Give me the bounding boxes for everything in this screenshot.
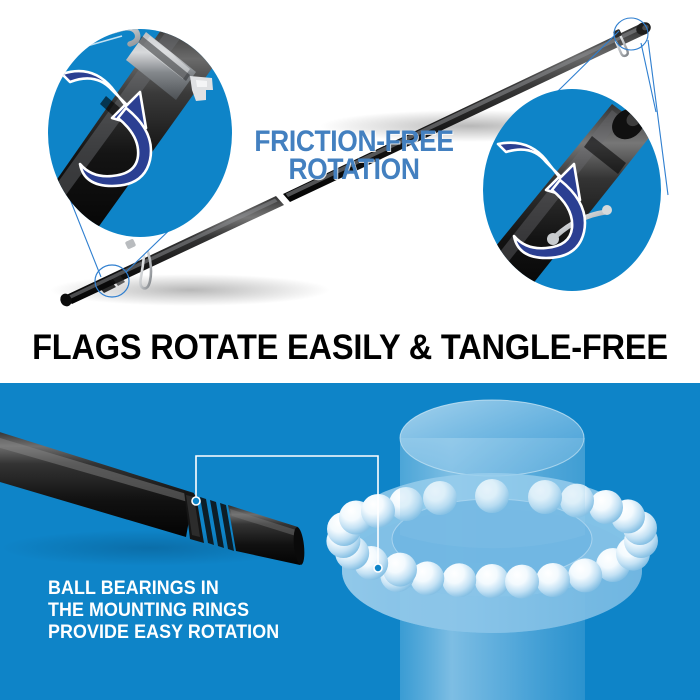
bearing-illustration [0,383,700,700]
leader-endpoint-ring [374,564,382,572]
friction-label-line1: FRICTION-FREE [243,128,465,156]
caption-line3: PROVIDE EASY ROTATION [48,622,279,644]
caption-line2: THE MOUNTING RINGS [48,600,279,622]
caption-line1: BALL BEARINGS IN [48,578,279,600]
top-illustration [0,0,700,383]
ball-bearing-caption: BALL BEARINGS IN THE MOUNTING RINGS PROV… [48,578,279,644]
product-infographic: FRICTION-FREE ROTATION FLAGS ROTATE EASI… [0,0,700,700]
ball-bearing-ring [326,438,658,633]
top-panel: FRICTION-FREE ROTATION [0,0,700,383]
leader-endpoint-pole [192,497,200,505]
friction-free-rotation-label: FRICTION-FREE ROTATION [243,128,465,184]
main-headline: FLAGS ROTATE EASILY & TANGLE-FREE [25,328,676,368]
bottom-panel [0,383,700,700]
friction-label-line2: ROTATION [243,156,465,184]
flagpole-bottom [0,429,306,566]
